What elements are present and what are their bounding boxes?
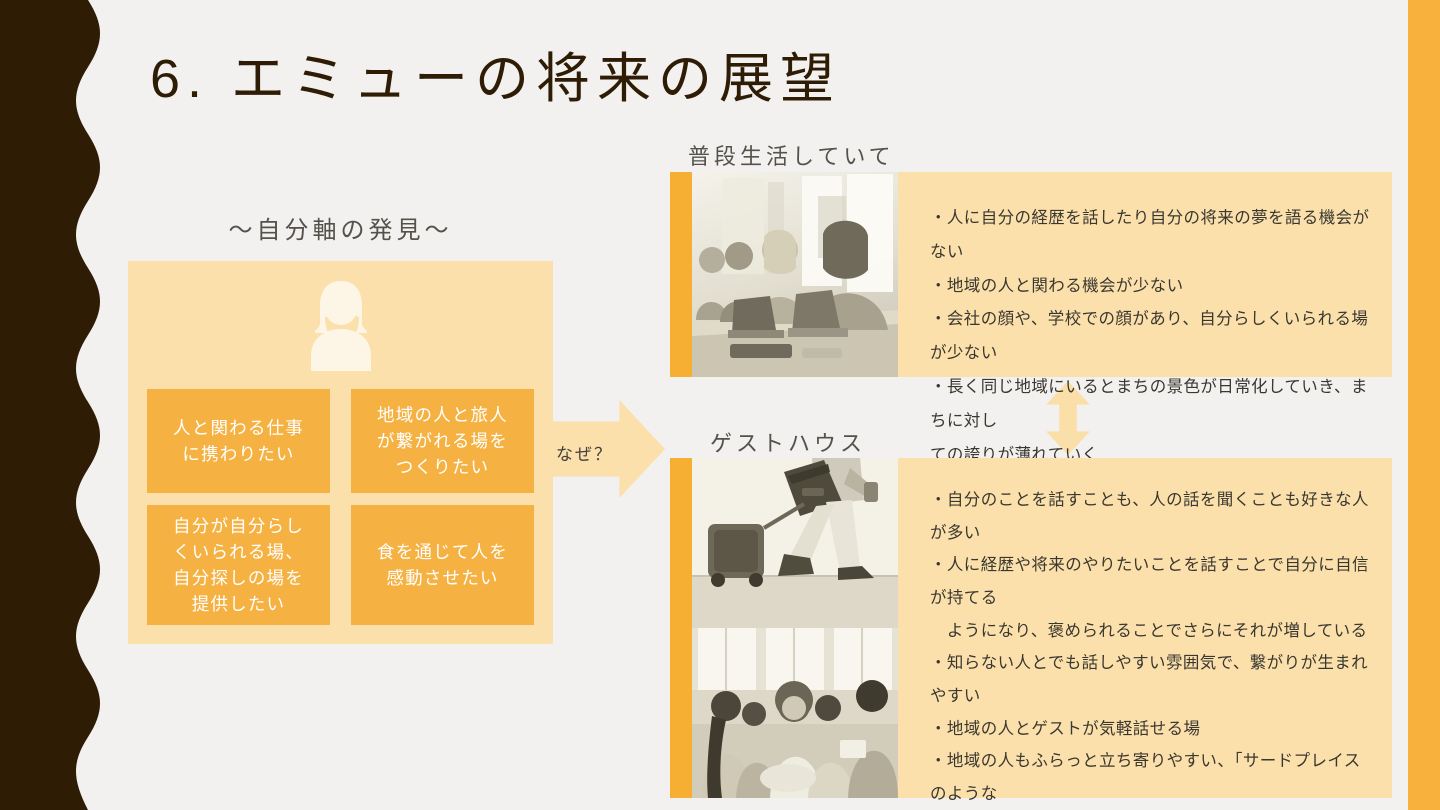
students-with-laptops-photo [692,172,898,377]
section-label-guesthouse: ゲストハウス [710,426,866,458]
guesthouse-panel: ・自分のことを話すことも、人の話を聞くことも好きな人が多い ・人に経歴や将来のや… [670,458,1392,798]
panel-accent-stripe [670,458,692,798]
goal-box[interactable]: 地域の人と旅人 が繋がれる場を つくりたい [351,389,534,493]
bullet-item: ・地域の人とゲストが気軽話せる場 [930,713,1376,746]
bullet-item: ・地域の人もふらっと立ち寄りやすい、「サードプレイスのような [930,745,1376,810]
bullet-item: ・人に経歴や将来のやりたいことを話すことで自分に自信が持てる [930,549,1376,614]
why-label: なぜ？ [556,440,613,465]
bullet-item: ・会社の顔や、学校での顔があり、自分らしくいられる場が少ない [930,303,1376,371]
section-label-daily-life: 普段生活していて [688,139,895,171]
right-accent-bar [1408,0,1440,810]
bullet-item: ・知らない人とでも話しやすい雰囲気で、繋がりが生まれやすい [930,647,1376,712]
goal-box-grid: 人と関わる仕事 に携わりたい 地域の人と旅人 が繋がれる場を つくりたい 自分が… [147,389,534,625]
person-avatar-icon [302,279,380,373]
daily-life-bullets: ・人に自分の経歴を話したり自分の将来の夢を語る機会がない ・地域の人と関わる機会… [898,172,1392,377]
bullet-item: ・自分のことを話すことも、人の話を聞くことも好きな人が多い [930,484,1376,549]
goal-box[interactable]: 食を通じて人を 感動させたい [351,505,534,625]
wavy-left-edge-decoration [0,0,110,810]
traveler-with-suitcase-photo [692,458,898,628]
guesthouse-bullets: ・自分のことを話すことも、人の話を聞くことも好きな人が多い ・人に経歴や将来のや… [898,458,1392,798]
goal-box[interactable]: 人と関わる仕事 に携わりたい [147,389,330,493]
slide-root: 6. エミューの将来の展望 〜自分軸の発見〜 人と関わる仕事 に携わりたい 地域… [0,0,1440,810]
goal-box[interactable]: 自分が自分らし くいられる場、 自分探しの場を 提供したい [147,505,330,625]
group-on-sofa-photo [692,628,898,798]
bullet-item: ようになり、褒められることでさらにそれが増している [930,615,1376,648]
self-axis-panel: 人と関わる仕事 に携わりたい 地域の人と旅人 が繋がれる場を つくりたい 自分が… [128,261,553,644]
page-title: 6. エミューの将来の展望 [150,34,841,113]
bullet-item: ・長く同じ地域にいるとまちの景色が日常化していき、まちに対し [930,371,1376,439]
panel-accent-stripe [670,172,692,377]
bullet-item: ・人に自分の経歴を話したり自分の将来の夢を語る機会がない [930,202,1376,270]
guesthouse-photo-stack [692,458,898,798]
bullet-item: ・地域の人と関わる機会が少ない [930,270,1376,304]
daily-life-panel: ・人に自分の経歴を話したり自分の将来の夢を語る機会がない ・地域の人と関わる機会… [670,172,1392,377]
avatar [128,279,553,373]
self-axis-heading: 〜自分軸の発見〜 [128,210,553,245]
